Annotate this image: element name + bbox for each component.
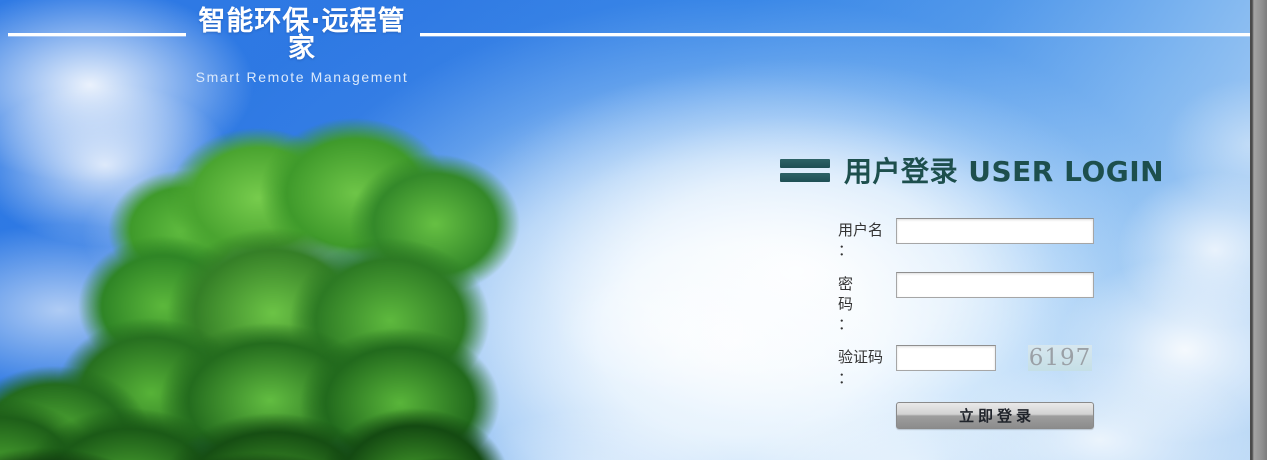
submit-row: 立即登录 [896,402,1170,429]
captcha-image[interactable]: 6197 [1028,345,1092,371]
captcha-label: 验证码 ： [838,345,896,388]
username-label-colon: ： [838,240,896,260]
login-heading: 用户登录 USER LOGIN [780,150,1170,190]
username-label-text: 用户名 [838,221,883,239]
login-panel: 用户登录 USER LOGIN 用户名 ： 密 码 ： 验证码 [770,150,1170,429]
password-label-colon: ： [838,314,896,334]
vertical-scrollbar[interactable] [1252,0,1267,460]
password-row: 密 码 ： [838,272,1170,335]
brand-title-cn: 智能环保·远程管家 [186,8,418,62]
captcha-input[interactable] [896,345,996,371]
login-heading-text: 用户登录 USER LOGIN [844,150,1164,190]
login-page: 智能环保·远程管家 Smart Remote Management 用户登录 U… [0,0,1267,460]
captcha-label-text: 验证码 [838,348,883,366]
tree-illustration [0,118,480,460]
username-input[interactable] [896,218,1094,244]
password-label-text: 密 码 [838,275,863,313]
password-input[interactable] [896,272,1094,298]
header-rule-right [420,33,1258,36]
captcha-row: 验证码 ： 6197 [838,345,1170,388]
username-label: 用户名 ： [838,218,896,261]
password-label: 密 码 ： [838,272,896,335]
scrollbar-thumb[interactable] [1254,0,1267,460]
header-rule-left [8,33,186,36]
two-bars-icon [780,159,830,182]
brand-title-en: Smart Remote Management [186,70,418,84]
login-button[interactable]: 立即登录 [896,402,1094,429]
brand-wordmark: 智能环保·远程管家 Smart Remote Management [186,8,418,84]
login-form: 用户名 ： 密 码 ： 验证码 ： 6197 [838,218,1170,429]
login-heading-en: USER LOGIN [968,155,1164,188]
captcha-label-colon: ： [838,368,896,388]
username-row: 用户名 ： [838,218,1170,261]
login-heading-cn: 用户登录 [844,155,958,188]
